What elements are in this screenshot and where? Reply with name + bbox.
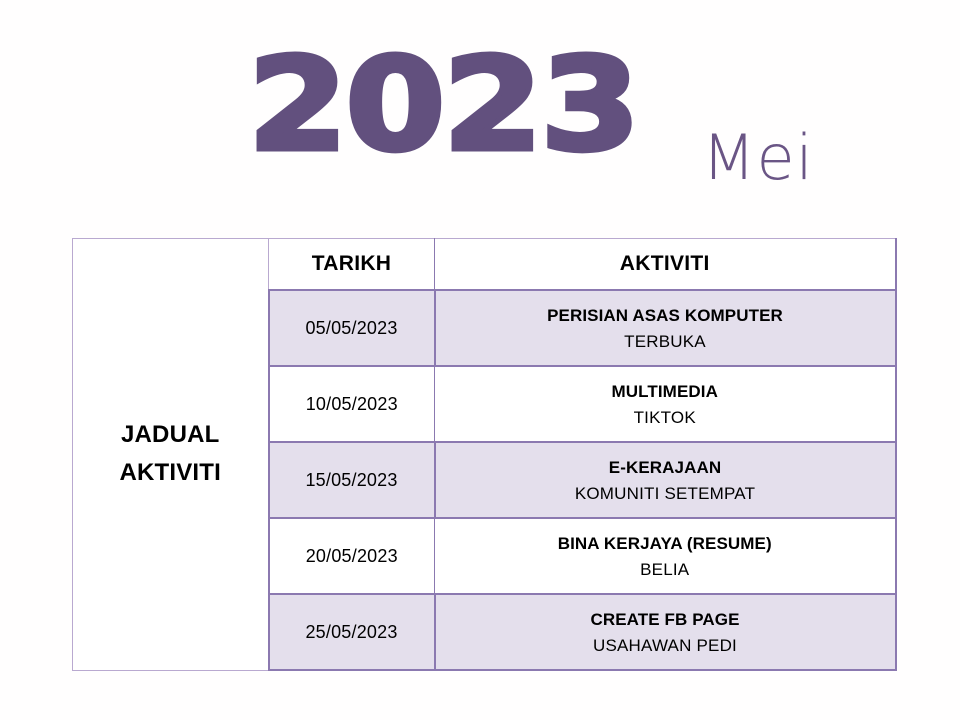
table-header-row: JADUAL AKTIVITI TARIKH AKTIVITI [73, 239, 896, 291]
schedule-table-container: JADUAL AKTIVITI TARIKH AKTIVITI 05/05/20… [72, 238, 896, 671]
cell-date: 15/05/2023 [269, 442, 435, 518]
schedule-table: JADUAL AKTIVITI TARIKH AKTIVITI 05/05/20… [72, 238, 897, 671]
activity-title: CREATE FB PAGE [444, 607, 887, 633]
schedule-title-cell: JADUAL AKTIVITI [73, 239, 269, 671]
activity-title: MULTIMEDIA [443, 379, 887, 405]
activity-title: BINA KERJAYA (RESUME) [443, 531, 887, 557]
cell-activity: CREATE FB PAGE USAHAWAN PEDI [435, 594, 896, 670]
cell-date: 25/05/2023 [269, 594, 435, 670]
activity-title: PERISIAN ASAS KOMPUTER [444, 303, 887, 329]
activity-title: E-KERAJAAN [444, 455, 887, 481]
activity-subtitle: TIKTOK [443, 405, 887, 431]
column-header-date: TARIKH [269, 239, 435, 291]
cell-activity: MULTIMEDIA TIKTOK [435, 366, 896, 442]
title-block: 2023 Mei [0, 0, 960, 220]
column-header-activity: AKTIVITI [435, 239, 896, 291]
month-heading: Mei [702, 123, 814, 193]
activity-subtitle: KOMUNITI SETEMPAT [444, 481, 887, 507]
schedule-title-line2: AKTIVITI [73, 454, 268, 492]
cell-date: 05/05/2023 [269, 290, 435, 366]
cell-date: 20/05/2023 [269, 518, 435, 594]
year-heading: 2023 [248, 36, 638, 176]
schedule-title-line1: JADUAL [73, 416, 268, 454]
cell-activity: BINA KERJAYA (RESUME) BELIA [435, 518, 896, 594]
activity-subtitle: TERBUKA [444, 329, 887, 355]
cell-activity: PERISIAN ASAS KOMPUTER TERBUKA [435, 290, 896, 366]
cell-date: 10/05/2023 [269, 366, 435, 442]
activity-subtitle: USAHAWAN PEDI [444, 633, 887, 659]
activity-subtitle: BELIA [443, 557, 887, 583]
cell-activity: E-KERAJAAN KOMUNITI SETEMPAT [435, 442, 896, 518]
